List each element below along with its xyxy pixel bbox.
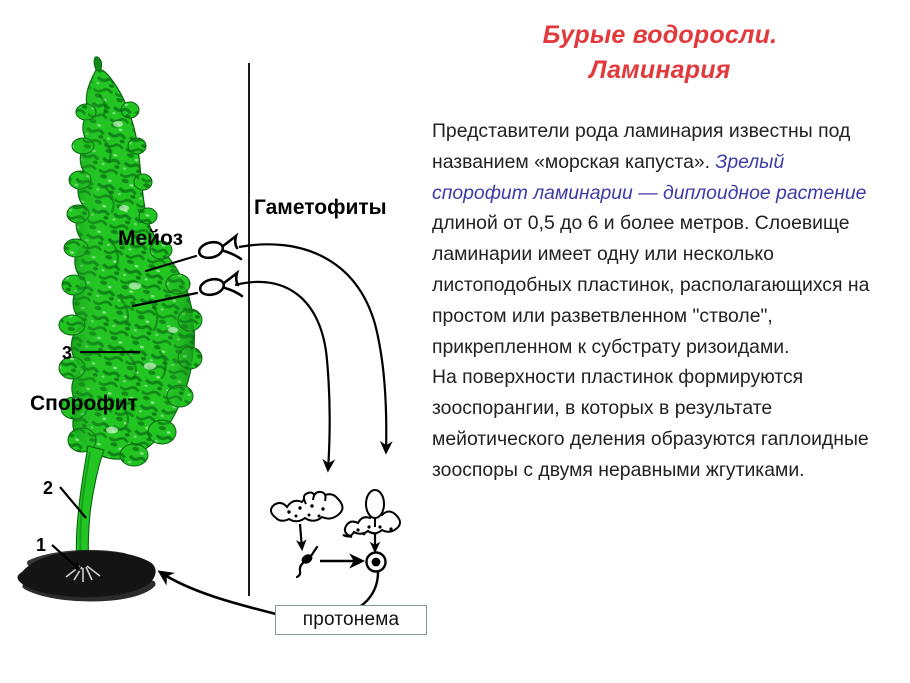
label-gametophytes: Гаметофиты — [254, 196, 387, 220]
callout-number-1: 1 — [36, 535, 46, 556]
description-paragraph-2: На поверхности пластинок формируются зоо… — [432, 362, 884, 485]
title-line-2: Ламинария — [430, 53, 890, 88]
description-text: Представители рода ламинария известны по… — [432, 116, 884, 486]
arrow-protonema-to-sporophyte — [160, 572, 276, 614]
protonema-box: протонема — [275, 605, 427, 635]
description-continuation: длиной от 0,5 до 6 и более метров. Слоев… — [432, 212, 869, 357]
male-gametophyte — [271, 492, 343, 521]
label-sporophyte: Спорофит — [30, 392, 138, 416]
kelp-thallus — [59, 57, 202, 566]
slide-canvas: Гаметофиты Мейоз Спорофит 3 2 1 протонем… — [0, 0, 910, 683]
egg-zygote — [367, 553, 386, 572]
arrow-male-to-sperm — [300, 524, 302, 549]
description-paragraph-1: Представители рода ламинария известны по… — [432, 116, 884, 362]
callout-number-2: 2 — [43, 478, 53, 499]
zoospore-upper — [198, 236, 241, 260]
female-gametophyte — [343, 490, 400, 537]
diagram-svg — [0, 0, 430, 683]
callout-number-3: 3 — [62, 343, 72, 364]
holdfast-substrate — [18, 551, 156, 598]
sperm-cell — [297, 547, 317, 577]
protonema-label: протонема — [303, 609, 400, 631]
life-cycle-diagram: Гаметофиты Мейоз Спорофит 3 2 1 протонем… — [0, 0, 430, 683]
page-title: Бурые водоросли. Ламинария — [430, 18, 890, 88]
arrow-meiosis-to-gametophyte-2 — [239, 244, 386, 452]
label-meiosis: Мейоз — [118, 227, 183, 251]
description-intro: Представители рода ламинария известны по… — [432, 120, 850, 173]
title-line-1: Бурые водоросли. — [430, 18, 890, 53]
